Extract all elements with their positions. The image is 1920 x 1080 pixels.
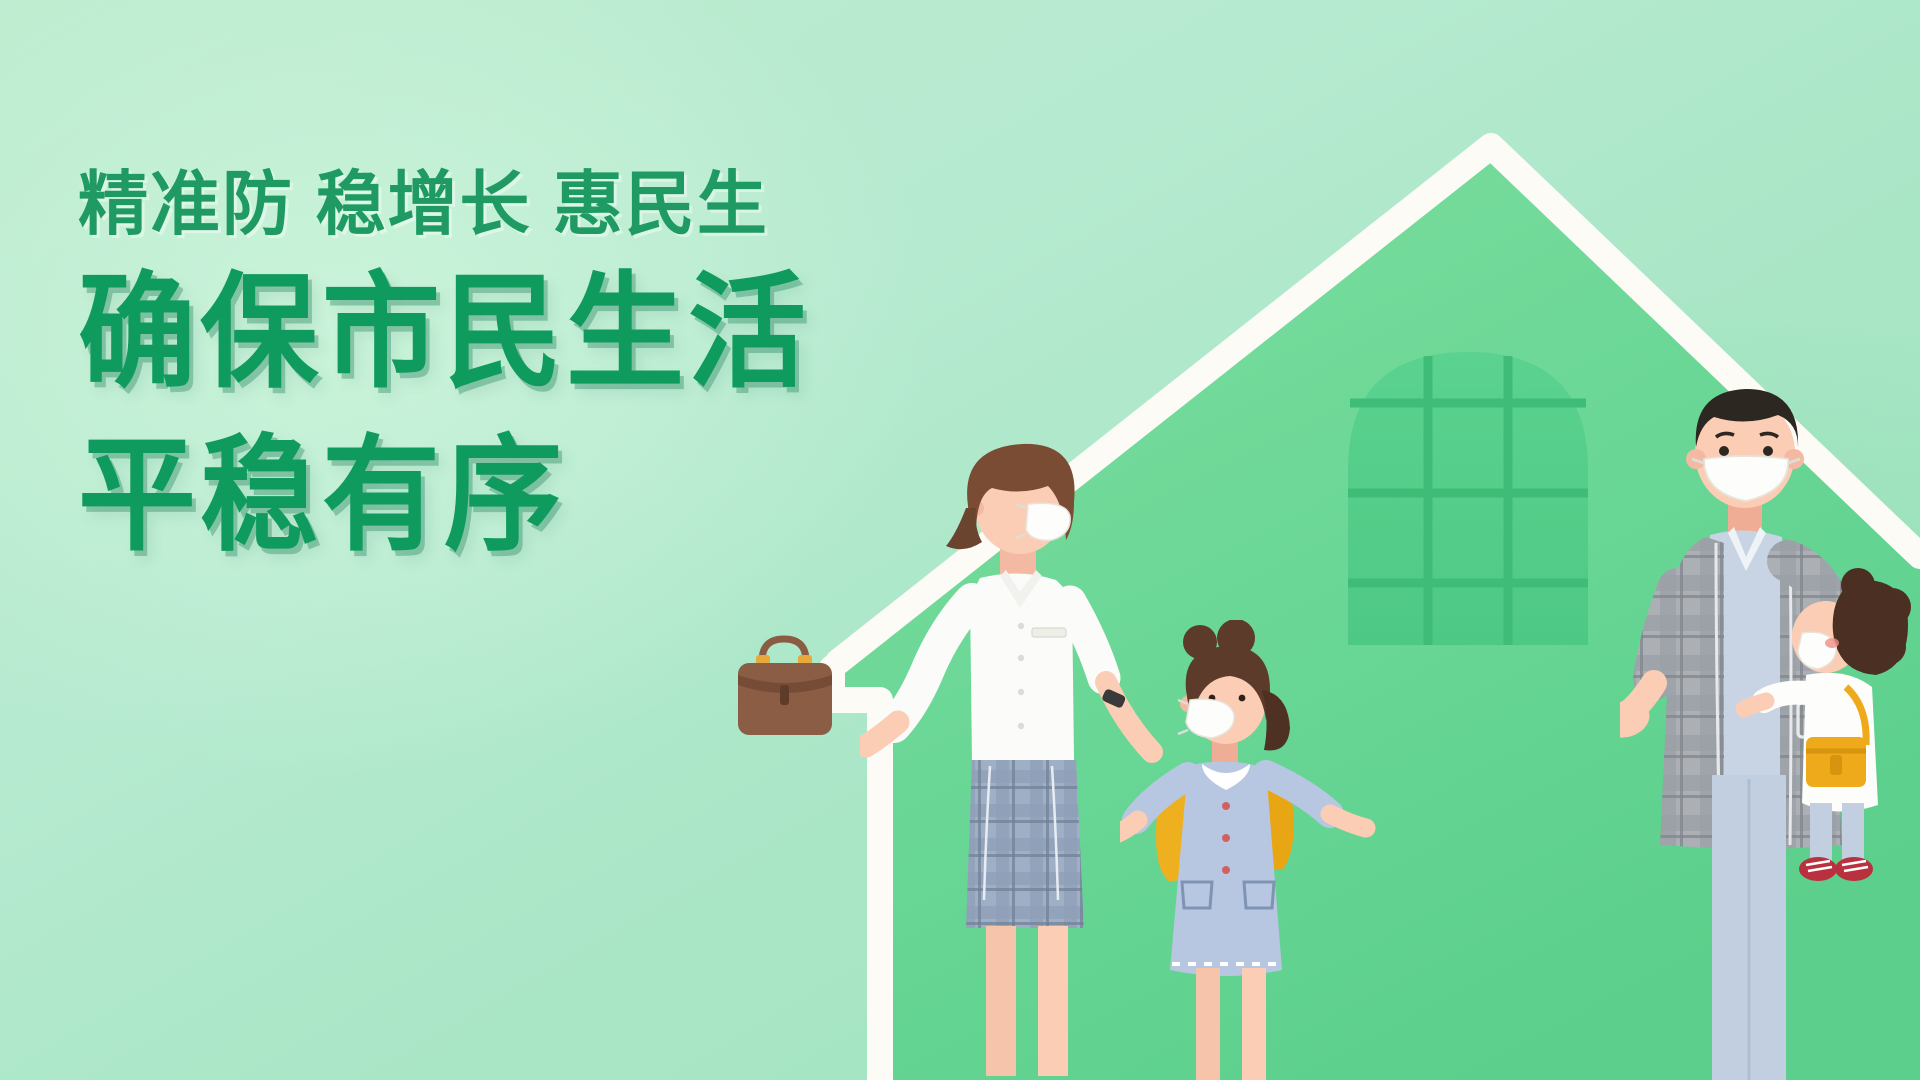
girl-hair-side	[1262, 690, 1290, 751]
baby-hair-puff-b	[1873, 588, 1911, 626]
girl-svg	[1120, 620, 1400, 1080]
father-eye-right	[1763, 446, 1773, 456]
mother-skirt	[966, 760, 1084, 928]
baby-blush	[1825, 638, 1839, 648]
baby-bag-latch	[1830, 755, 1842, 775]
mother-shirt-pocket	[1032, 628, 1066, 637]
father-svg	[1620, 375, 1920, 1080]
handbag-latch	[780, 685, 789, 705]
girl-eye-right	[1239, 695, 1246, 702]
baby-hand	[1744, 701, 1766, 709]
baby-hair-puff-c	[1870, 629, 1906, 665]
girl-left-forearm	[1120, 820, 1138, 834]
baby-leg-left	[1810, 803, 1832, 861]
headline-line-1: 确保市民生活	[78, 261, 958, 406]
girl-hair-bun-left	[1183, 625, 1217, 659]
father-left-sleeve	[1654, 589, 1678, 679]
mother-left-leg	[986, 926, 1016, 1076]
headline-line-2: 平稳有序	[78, 424, 958, 569]
poster-headline: 确保市民生活 平稳有序	[78, 261, 958, 561]
poster-canvas: 精准防 稳增长 惠民生 确保市民生活 平稳有序	[0, 0, 1920, 1080]
figure-father	[1620, 375, 1920, 1080]
mother-right-leg	[1038, 926, 1068, 1076]
girl-left-leg	[1196, 968, 1220, 1080]
girl-right-forearm	[1330, 814, 1366, 828]
mother-right-sleeve	[1070, 602, 1104, 678]
mother-face-mask	[1026, 503, 1070, 540]
arched-window	[1348, 352, 1588, 645]
figure-girl	[1120, 620, 1400, 1080]
poster-subtitle: 精准防 稳增长 惠民生	[78, 165, 958, 243]
girl-face-mask	[1186, 699, 1234, 738]
poster-text-block: 精准防 稳增长 惠民生 确保市民生活 平稳有序	[78, 165, 958, 561]
baby-hair-puff-a	[1841, 568, 1875, 602]
girl-right-leg	[1242, 968, 1266, 1080]
mother-left-sleeve	[894, 600, 972, 726]
baby-leg-right	[1842, 803, 1864, 861]
father-eye-left	[1719, 446, 1729, 456]
figure-handbag	[720, 625, 850, 755]
girl-hair-bun-right	[1217, 620, 1255, 657]
handbag-svg	[720, 625, 850, 755]
